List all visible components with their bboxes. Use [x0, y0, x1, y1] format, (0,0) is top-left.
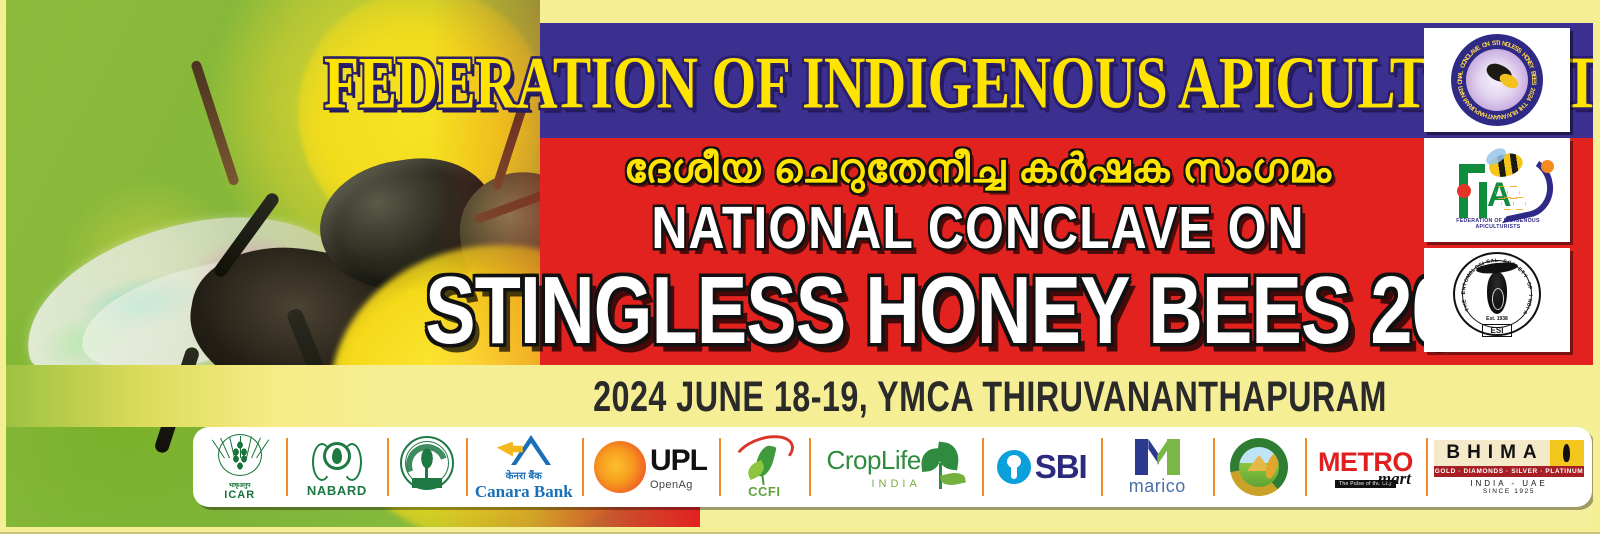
organisation-title-malayalam: ദേശീയ ചെറുതേനീച്ച കർഷക സംഗമം [548, 140, 1408, 198]
organisation-title-english: FEDERATION OF INDIGENOUS APICULTURISTS [552, 23, 1403, 141]
sponsor-marico: marico [1101, 427, 1213, 507]
canara-triangle-arrow-mark [495, 433, 553, 467]
sponsor-icar: भाकृअनुप ICAR [193, 427, 286, 507]
conclave-seal-ring-bottom-text: THIRUVANANTHAPURAM [1451, 34, 1543, 126]
esi-insect-icon [1487, 272, 1507, 314]
canara-bank-logo-icon: केनरा बैंक Canara Bank [475, 433, 573, 502]
fia-logo-icon: A FEDERATION OF INDIGENOUS APICULTURISTS [1437, 148, 1557, 232]
frame-right-edge [1593, 0, 1600, 534]
sponsor-logo-strip: भाकृअनुप ICAR NABARD [193, 427, 1592, 507]
fia-orange-dot [1541, 160, 1554, 173]
croplife-name: CropLife [827, 445, 921, 476]
conclave-seal-icon: NATIONAL CONCLAVE ON STINGLESS HONEY BEE… [1451, 34, 1543, 126]
sponsor-upl: UPL OpenAg [582, 427, 720, 507]
fia-red-dot [1457, 184, 1471, 198]
fia-honeycomb-icon [1495, 186, 1535, 216]
nabard-logo-icon: NABARD [307, 437, 367, 498]
sponsor-bhima: BHIMA GOLD · DIAMONDS · SILVER · PLATINU… [1426, 427, 1592, 507]
event-title-line-2: STINGLESS HONEY BEES 2024 [553, 251, 1407, 368]
entomological-society-card: THE ENTOMOLOGICAL SOCIETY OF INDIA Est. … [1424, 248, 1570, 352]
sbi-logo-icon: SBI [997, 448, 1087, 486]
icar-name: ICAR [224, 489, 255, 501]
bhima-logo-icon: BHIMA GOLD · DIAMONDS · SILVER · PLATINU… [1434, 440, 1584, 495]
marico-m-mark [1131, 437, 1183, 477]
frame-left-edge [0, 0, 6, 534]
upl-tagline: OpenAg [650, 479, 707, 491]
sponsor-nabard: NABARD [286, 427, 387, 507]
metro-mart-logo-icon: METRO mart The Pulse of the City [1318, 447, 1413, 488]
kau-logo-icon [398, 436, 456, 498]
ccfi-name: CCFI [727, 484, 801, 499]
nabard-hands-emblem [310, 437, 364, 483]
sponsor-ccfi: CCFI [719, 427, 809, 507]
bee-antenna [190, 60, 240, 187]
icar-wheat-emblem [214, 434, 266, 480]
fia-letter-i [1479, 182, 1487, 218]
nabard-name: NABARD [307, 483, 367, 498]
fia-caption: FEDERATION OF INDIGENOUS APICULTURISTS [1445, 218, 1551, 230]
metro-script-word: mart [1378, 469, 1411, 489]
sponsor-canara-bank: केनरा बैंक Canara Bank [466, 427, 582, 507]
icar-logo-icon: भाकृअनुप ICAR [214, 434, 266, 501]
icar-hindi-name: भाकृअनुप [229, 481, 251, 489]
bhima-name: BHIMA [1434, 440, 1550, 466]
marico-logo-icon: marico [1129, 437, 1186, 497]
bhima-regions: INDIA - UAE [1470, 479, 1547, 488]
bhima-materials: GOLD · DIAMONDS · SILVER · PLATINUM [1434, 466, 1584, 477]
sponsor-sbi: SBI [982, 427, 1101, 507]
bhima-since: SINCE 1925 [1483, 488, 1535, 495]
venue-band-photo-bleed [0, 365, 640, 427]
emblem-stack: NATIONAL CONCLAVE ON STINGLESS HONEY BEE… [1424, 28, 1570, 358]
sponsor-croplife-india: CropLife INDIA [809, 427, 982, 507]
ccfi-logo-icon: CCFI [727, 435, 801, 499]
marico-name: marico [1129, 476, 1186, 497]
esi-abbr: ESI [1482, 324, 1512, 337]
croplife-logo-icon: CropLife INDIA [827, 443, 965, 491]
sbi-keyhole-icon [997, 450, 1031, 484]
conclave-seal-card: NATIONAL CONCLAVE ON STINGLESS HONEY BEE… [1424, 28, 1570, 132]
entomological-society-icon: THE ENTOMOLOGICAL SOCIETY OF INDIA Est. … [1449, 252, 1545, 348]
upl-sun-orb [594, 441, 646, 493]
top-yellow-strip [540, 0, 1600, 23]
esi-established: Est. 1938 [1477, 316, 1517, 322]
canara-bank-name: Canara Bank [475, 482, 573, 502]
fia-logo-card: A FEDERATION OF INDIGENOUS APICULTURISTS [1424, 138, 1570, 242]
croplife-tagline: INDIA [827, 478, 921, 490]
fia-letter-f-arm [1459, 164, 1485, 173]
upl-logo-icon: UPL OpenAg [594, 441, 707, 493]
kfec-field-graphic [1239, 447, 1279, 487]
sponsor-metro-mart: METRO mart The Pulse of the City [1305, 427, 1426, 507]
event-banner: FEDERATION OF INDIGENOUS APICULTURISTS ദ… [0, 0, 1600, 534]
upl-name: UPL [650, 444, 707, 478]
croplife-sprout-icon [919, 443, 965, 491]
event-date-and-venue: 2024 JUNE 18-19, YMCA THIRUVANANTHAPURAM [582, 366, 1399, 429]
kfec-logo-icon [1230, 438, 1288, 496]
bhima-figure-icon [1550, 440, 1584, 466]
canara-bank-hindi-name: केनरा बैंक [506, 468, 542, 482]
sbi-name: SBI [1035, 448, 1087, 486]
sponsor-kerala-agricultural-university [387, 427, 466, 507]
sponsor-kerala-farmers-commission [1213, 427, 1305, 507]
